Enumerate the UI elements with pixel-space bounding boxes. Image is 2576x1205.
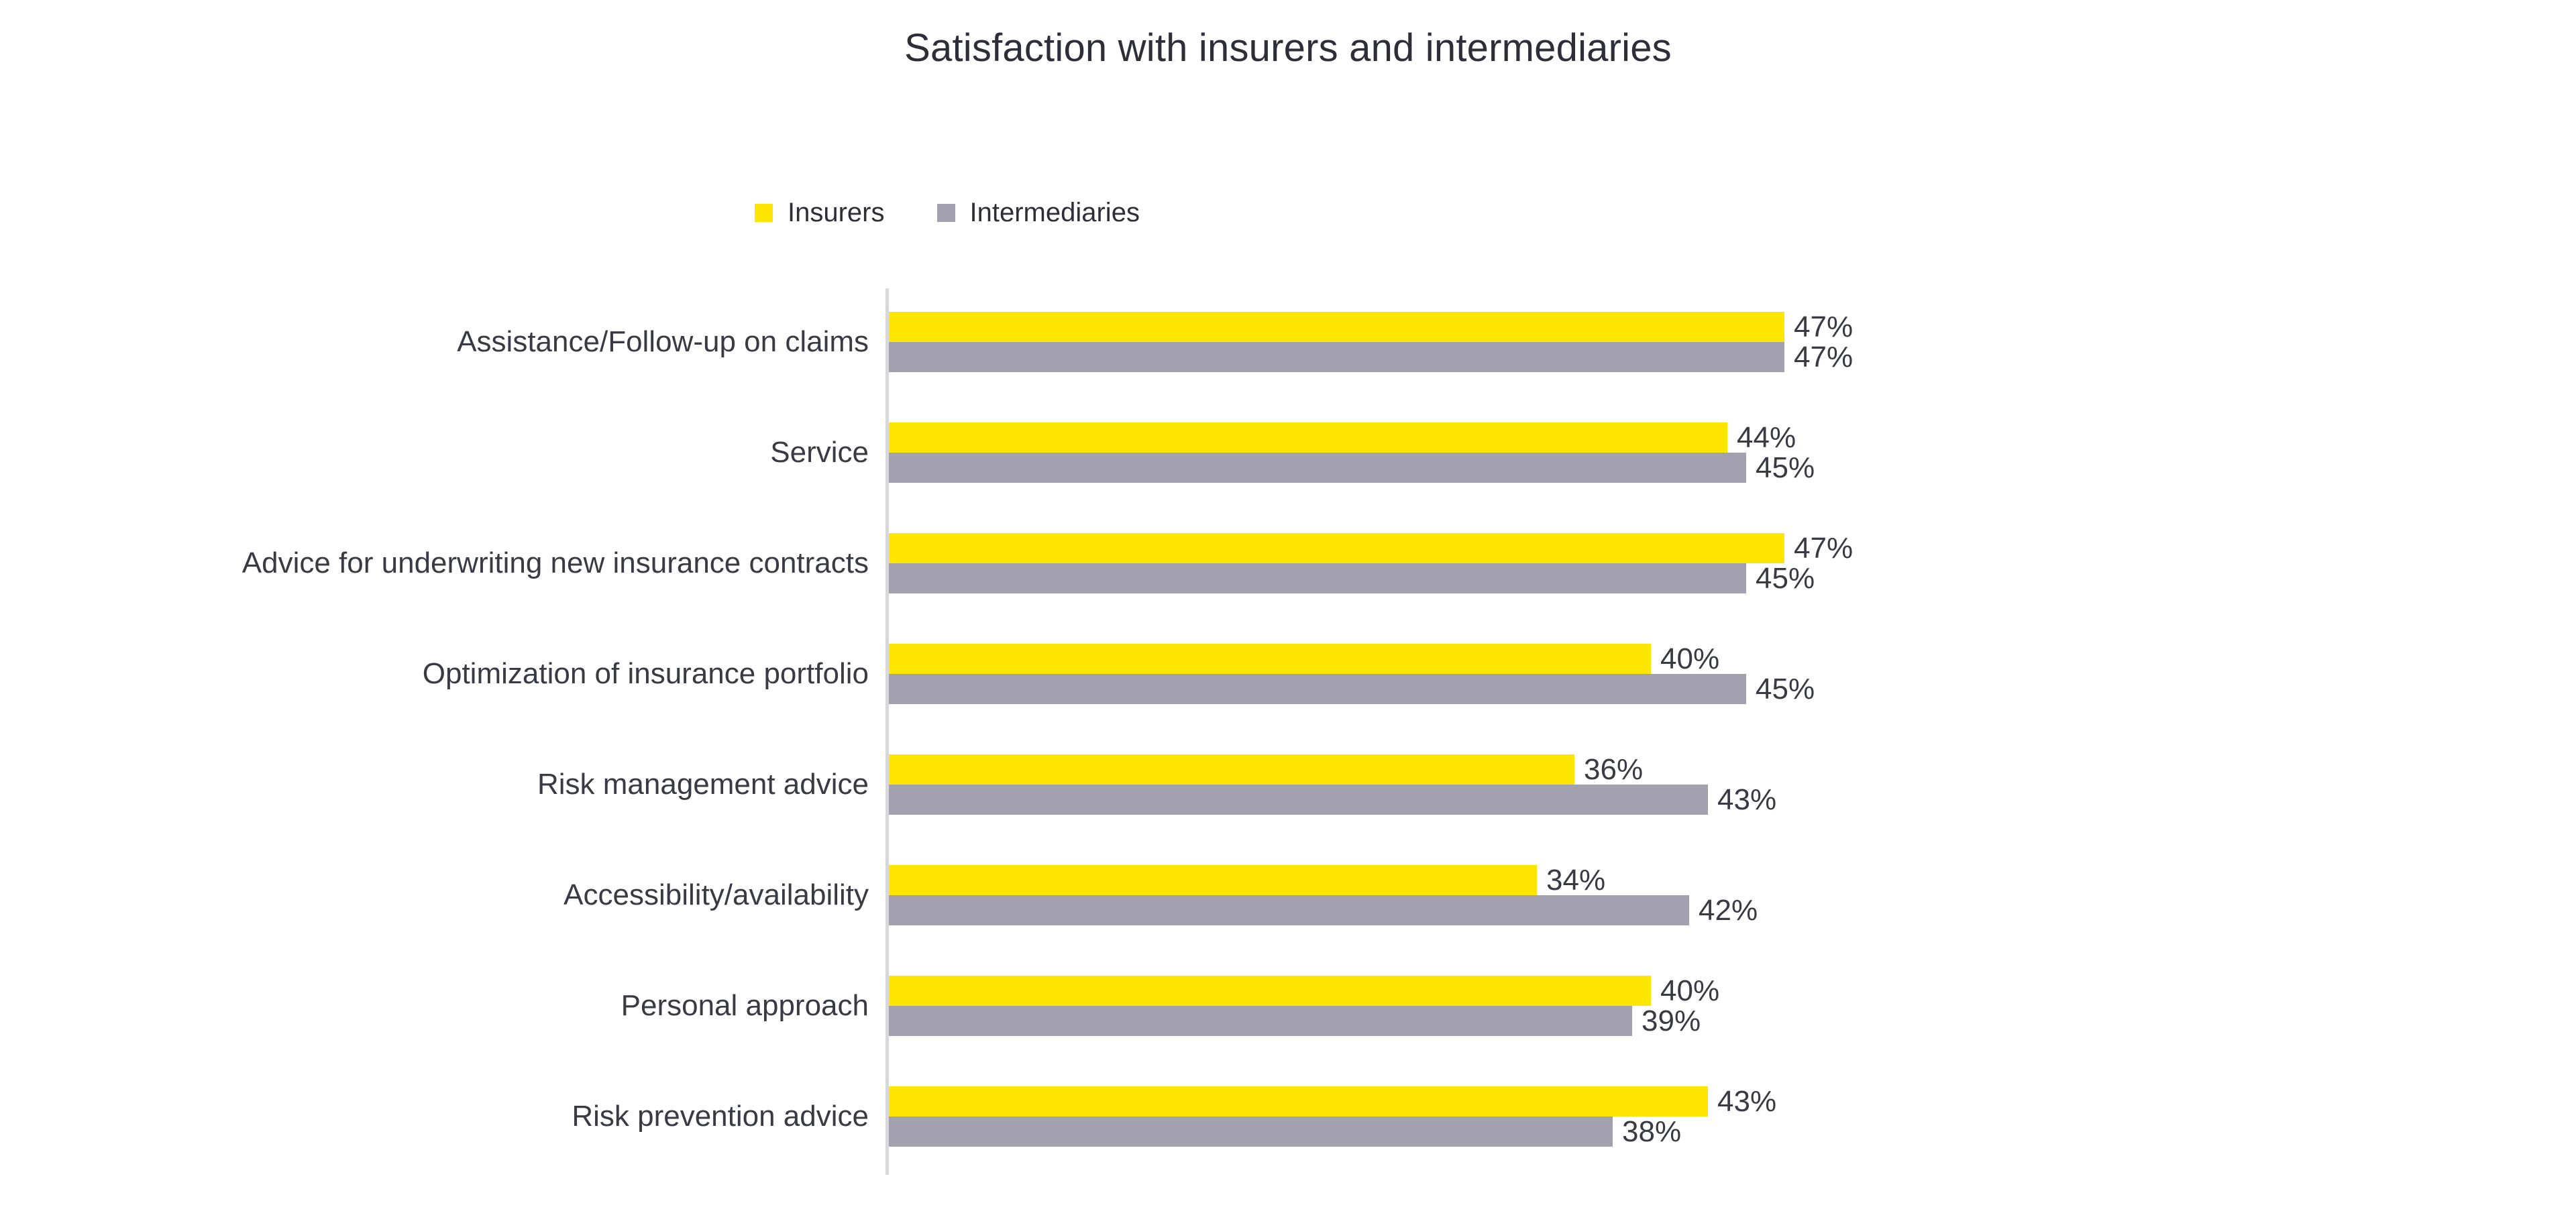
bar-value-label: 38% xyxy=(1622,1117,1681,1147)
bar-value-label: 44% xyxy=(1737,423,1796,453)
bar-row: 38% xyxy=(889,1116,2576,1147)
bar-insurers[interactable] xyxy=(889,865,1537,895)
bar-group: Risk management advice36%43% xyxy=(0,754,2576,815)
bar-value-label: 43% xyxy=(1717,1087,1776,1116)
bar-intermediaries[interactable] xyxy=(889,563,1746,593)
bar-insurers[interactable] xyxy=(889,422,1727,453)
category-label: Personal approach xyxy=(23,990,869,1022)
category-label: Service xyxy=(23,437,869,469)
bar-intermediaries[interactable] xyxy=(889,674,1746,704)
bar-value-label: 39% xyxy=(1642,1007,1701,1036)
bar-row: 43% xyxy=(889,1086,2576,1116)
bar-value-label: 47% xyxy=(1794,534,1853,563)
bar-row: 44% xyxy=(889,422,2576,453)
bar-group: Accessibility/availability34%42% xyxy=(0,865,2576,925)
bar-value-label: 45% xyxy=(1756,453,1815,483)
bar-group: Assistance/Follow-up on claims47%47% xyxy=(0,312,2576,372)
category-label: Risk prevention advice xyxy=(23,1100,869,1133)
bar-row: 42% xyxy=(889,895,2576,925)
bar-value-label: 42% xyxy=(1699,896,1758,925)
bar-group: Service44%45% xyxy=(0,422,2576,483)
bar-chart: Satisfaction with insurers and intermedi… xyxy=(0,0,2576,1205)
bar-value-label: 34% xyxy=(1546,866,1605,895)
bar-group: Risk prevention advice43%38% xyxy=(0,1086,2576,1147)
bar-row: 34% xyxy=(889,865,2576,895)
category-label: Assistance/Follow-up on claims xyxy=(23,326,869,358)
bar-intermediaries[interactable] xyxy=(889,342,1784,372)
bar-row: 36% xyxy=(889,754,2576,785)
bar-insurers[interactable] xyxy=(889,754,1574,785)
bar-row: 43% xyxy=(889,785,2576,815)
bar-row: 45% xyxy=(889,563,2576,593)
bar-intermediaries[interactable] xyxy=(889,453,1746,483)
bar-row: 47% xyxy=(889,342,2576,372)
bar-insurers[interactable] xyxy=(889,976,1651,1006)
bar-insurers[interactable] xyxy=(889,644,1651,674)
bar-value-label: 45% xyxy=(1756,675,1815,704)
bar-insurers[interactable] xyxy=(889,533,1784,563)
bar-row: 39% xyxy=(889,1006,2576,1036)
bar-value-label: 47% xyxy=(1794,312,1853,342)
bar-insurers[interactable] xyxy=(889,312,1784,342)
bar-row: 47% xyxy=(889,312,2576,342)
bar-intermediaries[interactable] xyxy=(889,1006,1632,1036)
bar-value-label: 40% xyxy=(1660,644,1719,674)
bar-group: Personal approach40%39% xyxy=(0,976,2576,1036)
plot-area: Assistance/Follow-up on claims47%47%Serv… xyxy=(0,0,2576,1205)
category-label: Optimization of insurance portfolio xyxy=(23,658,869,690)
bar-value-label: 47% xyxy=(1794,343,1853,372)
bar-row: 45% xyxy=(889,453,2576,483)
bar-intermediaries[interactable] xyxy=(889,1116,1613,1147)
bar-value-label: 43% xyxy=(1717,785,1776,815)
bar-value-label: 40% xyxy=(1660,976,1719,1006)
bar-value-label: 36% xyxy=(1584,755,1643,785)
category-label: Accessibility/availability xyxy=(23,879,869,911)
bar-group: Optimization of insurance portfolio40%45… xyxy=(0,644,2576,704)
bar-row: 40% xyxy=(889,644,2576,674)
bar-insurers[interactable] xyxy=(889,1086,1708,1116)
bar-row: 47% xyxy=(889,533,2576,563)
category-axis-line xyxy=(885,288,889,1175)
bar-group: Advice for underwriting new insurance co… xyxy=(0,533,2576,593)
bar-intermediaries[interactable] xyxy=(889,895,1689,925)
bar-intermediaries[interactable] xyxy=(889,785,1708,815)
category-label: Advice for underwriting new insurance co… xyxy=(23,547,869,579)
bar-row: 45% xyxy=(889,674,2576,704)
bar-value-label: 45% xyxy=(1756,564,1815,593)
category-label: Risk management advice xyxy=(23,768,869,801)
bar-row: 40% xyxy=(889,976,2576,1006)
